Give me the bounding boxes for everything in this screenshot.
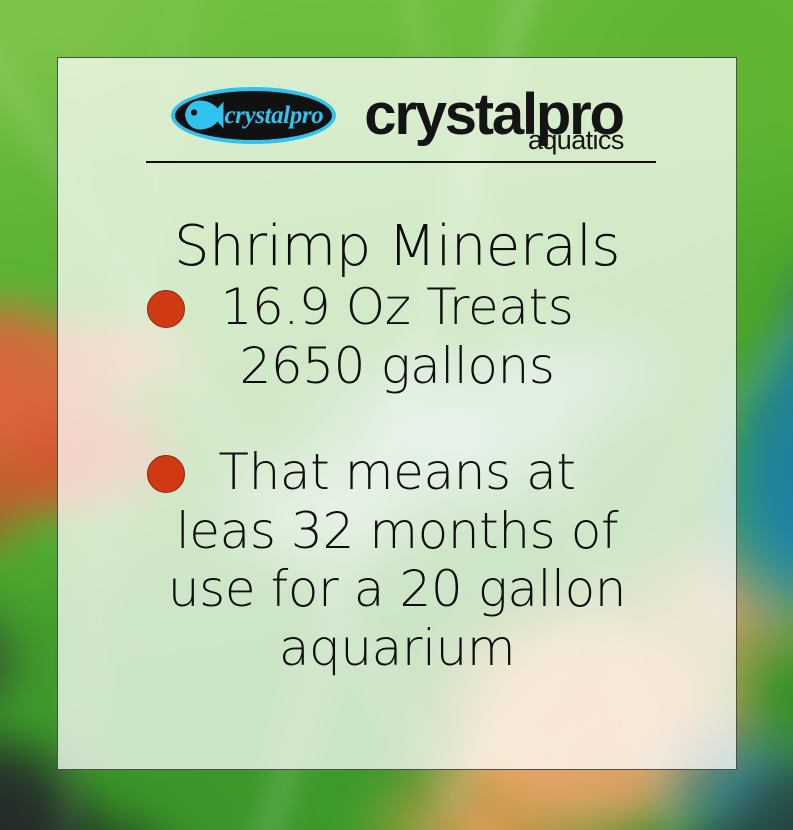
feature-line: 2650 gallons (84, 337, 710, 396)
bullet-dot-icon (147, 290, 185, 328)
crystalpro-wordmark: crystalpro aquatics (364, 82, 622, 148)
list-item: That means at leas 32 months of use for … (58, 443, 736, 677)
product-graphic: crystalpro crystalpro aquatics Shrimp Mi… (0, 0, 793, 830)
feature-line: use for a 20 gallon (76, 560, 718, 619)
fish-icon (184, 100, 224, 131)
list-item: 16.9 Oz Treats 2650 gallons (58, 278, 736, 395)
product-title: Shrimp Minerals (58, 216, 736, 279)
crystalpro-logo-badge: crystalpro (171, 87, 336, 144)
content-panel: crystalpro crystalpro aquatics Shrimp Mi… (57, 57, 737, 770)
wordmark-secondary: aquatics (528, 127, 624, 154)
feature-line: aquarium (76, 619, 718, 678)
logo-badge-text: crystalpro (224, 103, 323, 128)
feature-list: 16.9 Oz Treats 2650 gallons That means a… (58, 278, 736, 677)
bullet-dot-icon (147, 455, 185, 493)
brand-header: crystalpro crystalpro aquatics (58, 75, 736, 155)
feature-line: leas 32 months of (76, 502, 718, 561)
header-divider (146, 161, 656, 163)
